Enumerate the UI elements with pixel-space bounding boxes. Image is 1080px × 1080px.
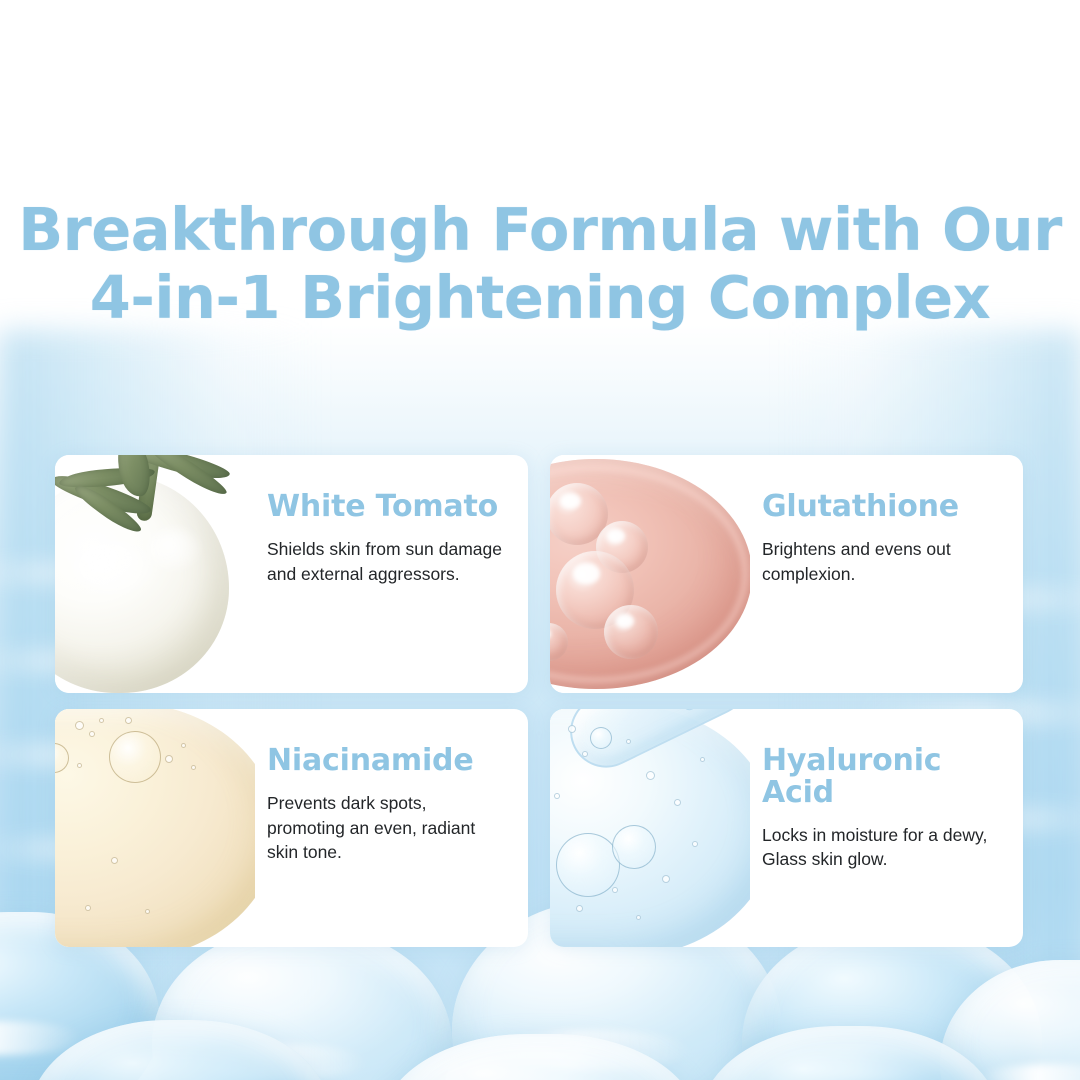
card-title: White Tomato <box>267 491 502 523</box>
card-body: Niacinamide Prevents dark spots, promoti… <box>255 709 528 947</box>
card-body: Glutathione Brightens and evens out comp… <box>750 455 1023 693</box>
card-title: Niacinamide <box>267 745 502 777</box>
page-title-line-2: 4-in-1 Brightening Complex <box>0 264 1080 332</box>
card-description: Locks in moisture for a dewy, Glass skin… <box>762 823 997 873</box>
card-description: Prevents dark spots, promoting an even, … <box>267 791 502 866</box>
infographic-canvas: Breakthrough Formula with Our 4-in-1 Bri… <box>0 0 1080 1080</box>
card-body: White Tomato Shields skin from sun damag… <box>255 455 528 693</box>
yellow-serum-droplet-photo <box>55 709 255 947</box>
ingredient-card-white-tomato[interactable]: White Tomato Shields skin from sun damag… <box>55 455 528 693</box>
card-title: Hyaluronic Acid <box>762 745 997 809</box>
ingredient-card-glutathione[interactable]: Glutathione Brightens and evens out comp… <box>550 455 1023 693</box>
ingredient-card-niacinamide[interactable]: Niacinamide Prevents dark spots, promoti… <box>55 709 528 947</box>
page-title: Breakthrough Formula with Our 4-in-1 Bri… <box>0 196 1080 333</box>
pink-gel-droplet-photo <box>550 455 750 693</box>
ingredient-card-hyaluronic-acid[interactable]: Hyaluronic Acid Locks in moisture for a … <box>550 709 1023 947</box>
page-title-line-1: Breakthrough Formula with Our <box>18 195 1062 264</box>
blue-gel-pipette-photo <box>550 709 750 947</box>
card-body: Hyaluronic Acid Locks in moisture for a … <box>750 709 1023 947</box>
card-description: Shields skin from sun damage and externa… <box>267 537 502 587</box>
ingredient-card-grid: White Tomato Shields skin from sun damag… <box>55 455 1023 947</box>
card-description: Brightens and evens out complexion. <box>762 537 997 587</box>
card-title: Glutathione <box>762 491 997 523</box>
white-tomato-photo <box>55 455 255 693</box>
